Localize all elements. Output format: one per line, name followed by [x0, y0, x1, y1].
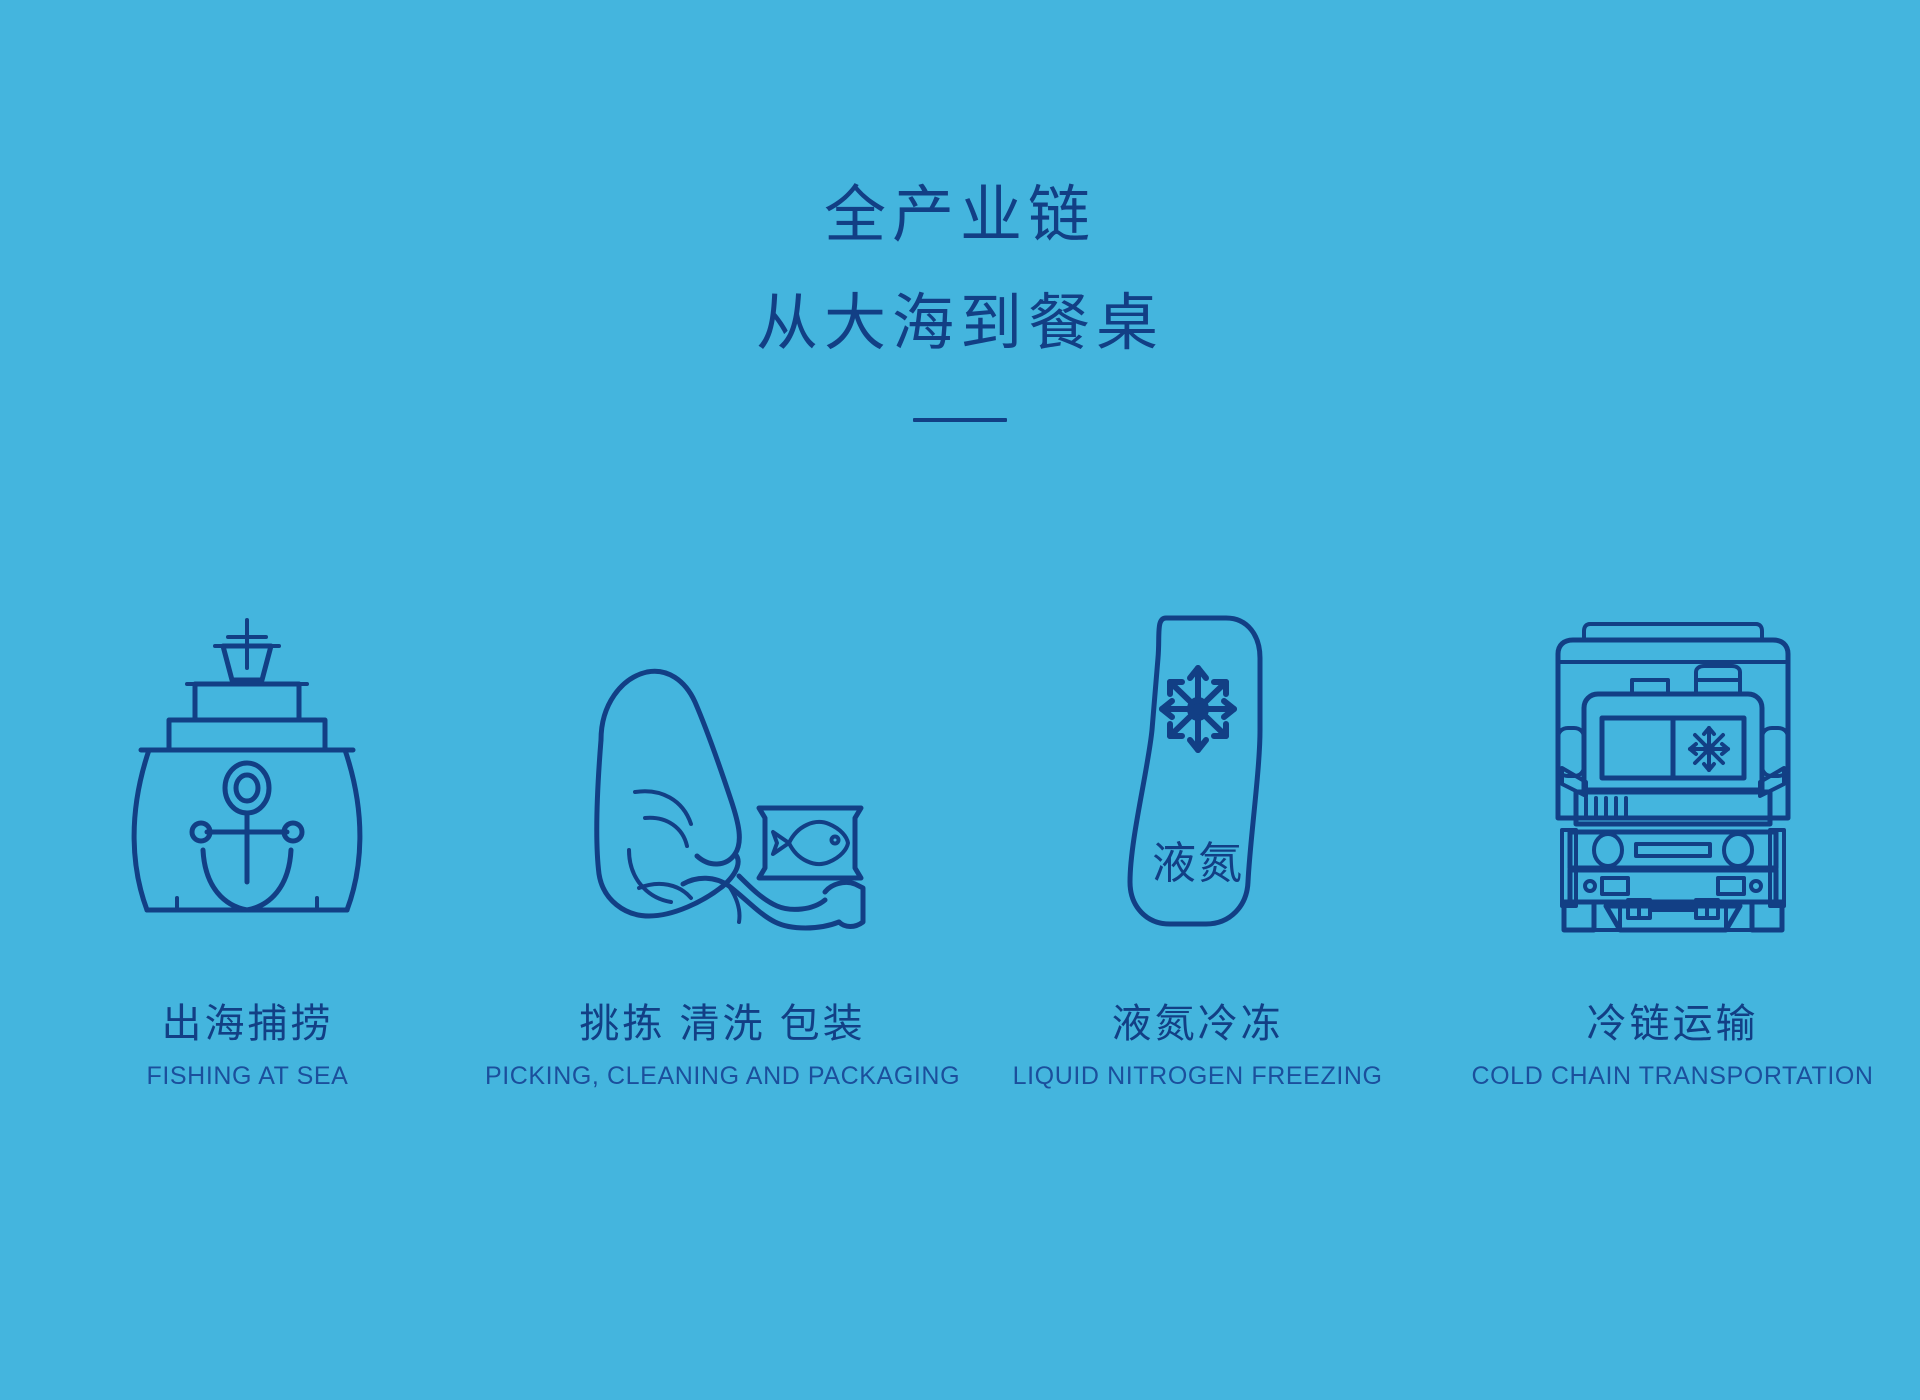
step-label-cn: 冷链运输: [1471, 1000, 1873, 1048]
step-label-en: COLD CHAIN TRANSPORTATION: [1471, 1062, 1873, 1091]
step-icon-wrap: [563, 540, 883, 940]
step-labels: 液氮冷冻 LIQUID NITROGEN FREEZING: [1013, 1000, 1383, 1091]
step-label-cn: 出海捕捞: [146, 1000, 348, 1048]
tank-text: 液氮: [1152, 838, 1244, 889]
step-label-cn: 液氮冷冻: [1013, 1000, 1383, 1048]
step-labels: 出海捕捞 FISHING AT SEA: [146, 1000, 348, 1091]
step-label-en: PICKING, CLEANING AND PACKAGING: [485, 1062, 960, 1091]
title-divider: [913, 418, 1007, 422]
step-cold-chain-transportation: 冷链运输 COLD CHAIN TRANSPORTATION: [1435, 540, 1910, 1091]
step-labels: 挑拣 清洗 包装 PICKING, CLEANING AND PACKAGING: [485, 1000, 960, 1091]
refrigerated-truck-icon: [1528, 610, 1818, 940]
step-liquid-nitrogen-freezing: 液氮 液氮冷冻 LIQUID NITROGEN FREEZING: [960, 540, 1435, 1091]
step-label-cn: 挑拣 清洗 包装: [485, 1000, 960, 1048]
snowflake-icon: [1690, 728, 1728, 770]
step-label-en: LIQUID NITROGEN FREEZING: [1013, 1062, 1383, 1091]
page-header: 全产业链 从大海到餐桌: [0, 170, 1920, 422]
step-labels: 冷链运输 COLD CHAIN TRANSPORTATION: [1471, 1000, 1873, 1091]
step-fishing-at-sea: 出海捕捞 FISHING AT SEA: [10, 540, 485, 1091]
step-icon-wrap: [1528, 540, 1818, 940]
fishing-boat-icon: [97, 610, 397, 940]
step-label-en: FISHING AT SEA: [146, 1062, 348, 1091]
step-picking-cleaning-packaging: 挑拣 清洗 包装 PICKING, CLEANING AND PACKAGING: [485, 540, 960, 1091]
process-steps-row: 出海捕捞 FISHING AT SEA: [0, 540, 1920, 1091]
liquid-nitrogen-tank-icon: 液氮: [1108, 610, 1288, 940]
step-icon-wrap: 液氮: [1108, 540, 1288, 940]
hands-sorting-packaging-icon: [563, 610, 883, 940]
page-root: 全产业链 从大海到餐桌: [0, 0, 1920, 1400]
step-icon-wrap: [97, 540, 397, 940]
page-title-line-1: 全产业链: [0, 170, 1920, 260]
snowflake-icon: [1162, 668, 1234, 750]
page-title-line-2: 从大海到餐桌: [0, 278, 1920, 368]
